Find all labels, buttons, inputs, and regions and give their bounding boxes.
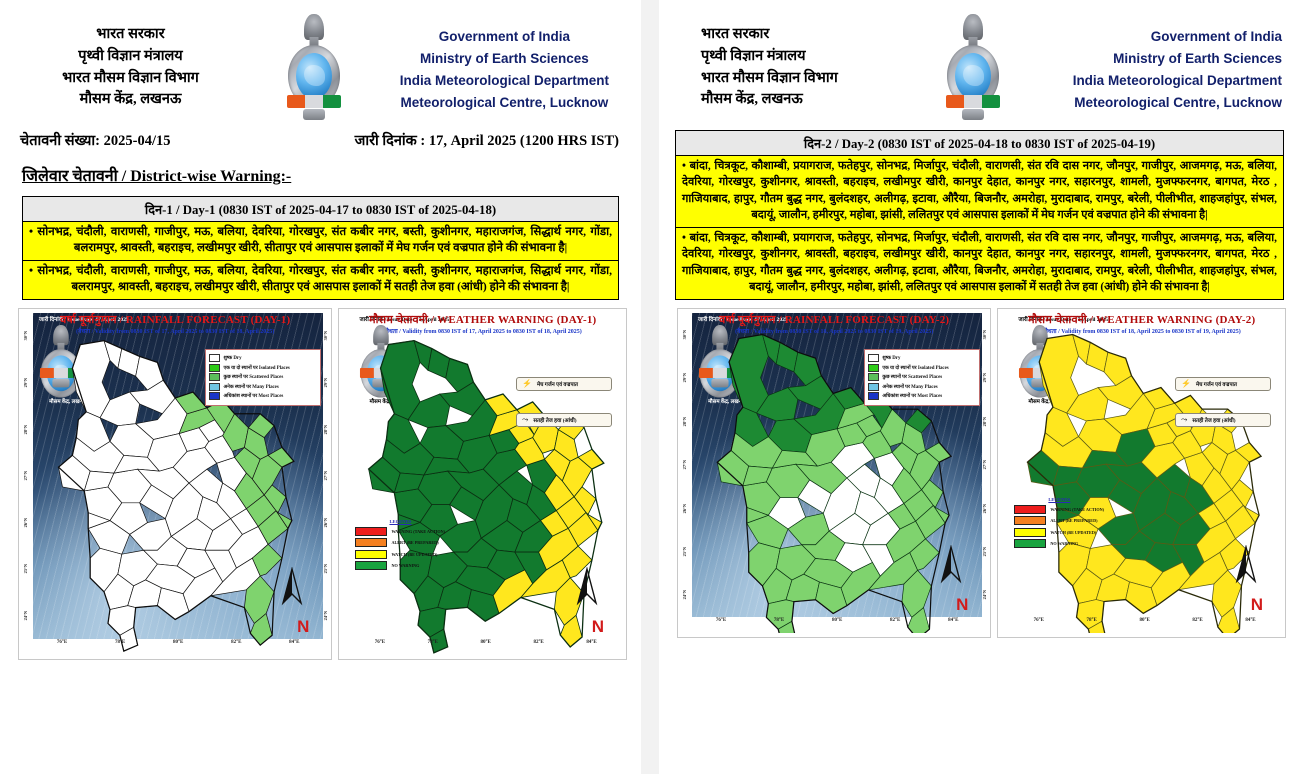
weather-symbol-strong-wind: ⤳ सतही तेज हवा (आंधी) bbox=[516, 413, 612, 427]
legend-label: ALERT (BE PREPARED) bbox=[1050, 518, 1097, 523]
header-english-line-3: India Meteorological Department bbox=[382, 70, 627, 92]
y-tick: 28°N bbox=[323, 425, 328, 434]
warning-legend: LEGENDS WARNING (TAKE ACTION) ALERT (BE … bbox=[1014, 497, 1114, 551]
page-left-day1: भारत सरकार पृथ्वी विज्ञान मंत्रालय भारत … bbox=[0, 0, 641, 774]
legend-item: NO WARNING bbox=[355, 561, 455, 570]
y-tick: 29°N bbox=[23, 378, 28, 387]
y-tick: 25°N bbox=[982, 547, 987, 556]
north-arrow-icon bbox=[1233, 545, 1259, 585]
legend-item: कुछ स्थानों पर Scattered Places bbox=[209, 373, 317, 381]
legend-swatch bbox=[355, 561, 387, 570]
x-tick: 82°E bbox=[890, 618, 900, 631]
map-weather-warning-day2[interactable]: जारी दिनांक / Issue Date: 17, April 2025… bbox=[997, 308, 1286, 638]
legend-label: WARNING (TAKE ACTION) bbox=[391, 529, 445, 534]
document-header: भारत सरकार पृथ्वी विज्ञान मंत्रालय भारत … bbox=[659, 0, 1300, 122]
y-tick: 27°N bbox=[682, 460, 687, 469]
table-row: • बांदा, चित्रकूट, कौशाम्बी, प्रयागराज, … bbox=[676, 228, 1283, 299]
legend-swatch bbox=[868, 364, 879, 372]
legend-swatch bbox=[209, 392, 220, 400]
legend-item: ALERT (BE PREPARED) bbox=[355, 538, 455, 547]
x-tick: 78°E bbox=[428, 640, 438, 653]
day1-table-header: दिन-1 / Day-1 (0830 IST of 2025-04-17 to… bbox=[23, 197, 618, 222]
india-national-emblem-icon bbox=[942, 14, 1004, 122]
legend-label: शुष्क Dry bbox=[882, 355, 900, 361]
header-english-line-2: Ministry of Earth Sciences bbox=[382, 48, 627, 70]
x-tick: 78°E bbox=[115, 640, 125, 653]
y-tick: 26°N bbox=[23, 518, 28, 527]
x-tick: 78°E bbox=[774, 618, 784, 631]
y-tick: 30°N bbox=[682, 330, 687, 339]
legend-label: WATCH (BE UPDATED) bbox=[1050, 530, 1096, 535]
header-english-line-4: Meteorological Centre, Lucknow bbox=[382, 92, 627, 114]
legend-item: NO WARNING bbox=[1014, 539, 1114, 548]
x-tick: 82°E bbox=[533, 640, 543, 653]
legend-swatch bbox=[868, 383, 879, 391]
legend-swatch bbox=[209, 373, 220, 381]
y-tick: 27°N bbox=[982, 460, 987, 469]
document-header: भारत सरकार पृथ्वी विज्ञान मंत्रालय भारत … bbox=[0, 0, 641, 122]
north-arrow-label: N bbox=[297, 617, 309, 637]
map-weather-warning-day1[interactable]: जारी दिनांक / Issue Date: 17, April 2025… bbox=[338, 308, 627, 660]
rainfall-legend: शुष्क Dry एक या दो स्थानों पर Isolated P… bbox=[864, 349, 980, 406]
header-english-line-4: Meteorological Centre, Lucknow bbox=[1041, 92, 1282, 114]
map-y-axis-right: 30°N29°N 28°N27°N 26°N25°N 24°N bbox=[978, 313, 990, 617]
legend-label: कुछ स्थानों पर Scattered Places bbox=[223, 374, 283, 380]
header-hindi-line-3: भारत मौसम विज्ञान विभाग bbox=[14, 68, 247, 90]
map-x-axis: 76°E78°E 80°E82°E 84°E bbox=[33, 640, 323, 653]
north-arrow-icon bbox=[574, 567, 600, 607]
x-tick: 80°E bbox=[832, 618, 842, 631]
map-x-axis: 76°E78°E 80°E82°E 84°E bbox=[1012, 618, 1277, 631]
weather-symbol-label: सतही तेज हवा (आंधी) bbox=[533, 416, 576, 424]
header-hindi-line-2: पृथ्वी विज्ञान मंत्रालय bbox=[14, 46, 247, 68]
warning-bulletin-page: भारत सरकार पृथ्वी विज्ञान मंत्रालय भारत … bbox=[0, 0, 1300, 774]
header-hindi-line-1: भारत सरकार bbox=[701, 24, 906, 46]
legend-label: शुष्क Dry bbox=[223, 355, 241, 361]
legend-item: शुष्क Dry bbox=[868, 354, 976, 362]
x-tick: 76°E bbox=[375, 640, 385, 653]
north-arrow-icon bbox=[279, 567, 305, 607]
legend-title: LEGENDS bbox=[1048, 497, 1114, 502]
legend-item: ALERT (BE PREPARED) bbox=[1014, 516, 1114, 525]
legend-item: शुष्क Dry bbox=[209, 354, 317, 362]
legend-label: एक या दो स्थानों पर Isolated Places bbox=[882, 365, 948, 371]
table-row: • सोनभद्र, चंदौली, वाराणसी, गाजीपुर, मऊ,… bbox=[23, 222, 618, 261]
weather-symbol-label: सतही तेज हवा (आंधी) bbox=[1192, 416, 1235, 424]
legend-label: अधिकांश स्थानों पर Most Places bbox=[223, 393, 283, 399]
y-tick: 24°N bbox=[323, 611, 328, 620]
day2-maps-row: जारी दिनांक / Issue Date: 17, April 2025… bbox=[659, 300, 1300, 638]
table-row: • बांदा, चित्रकूट, कौशाम्बी, प्रयागराज, … bbox=[676, 156, 1283, 228]
weather-symbol-thunderstorm: ⚡ मेघ गर्जन एवं वज्रपात bbox=[1175, 377, 1271, 391]
legend-swatch bbox=[1014, 516, 1046, 525]
day1-maps-row: जारी दिनांक / Issue Date: 17, April 2025… bbox=[0, 300, 641, 660]
india-national-emblem-icon bbox=[283, 14, 345, 122]
y-tick: 24°N bbox=[682, 590, 687, 599]
legend-swatch bbox=[355, 527, 387, 536]
bulletin-meta-row: चेतावनी संख्या: 2025-04/15 जारी दिनांक :… bbox=[0, 122, 641, 150]
x-tick: 80°E bbox=[1139, 618, 1149, 631]
y-tick: 28°N bbox=[982, 417, 987, 426]
day2-warning-table: दिन-2 / Day-2 (0830 IST of 2025-04-18 to… bbox=[675, 130, 1284, 300]
x-tick: 82°E bbox=[231, 640, 241, 653]
legend-label: NO WARNING bbox=[1050, 541, 1078, 546]
y-tick: 29°N bbox=[682, 373, 687, 382]
y-tick: 29°N bbox=[982, 373, 987, 382]
table-row: • सोनभद्र, चंदौली, वाराणसी, गाजीपुर, मऊ,… bbox=[23, 261, 618, 299]
y-tick: 25°N bbox=[23, 564, 28, 573]
legend-item: अधिकांश स्थानों पर Most Places bbox=[868, 392, 976, 400]
legend-item: एक या दो स्थानों पर Isolated Places bbox=[209, 364, 317, 372]
x-tick: 76°E bbox=[57, 640, 67, 653]
legend-swatch bbox=[209, 354, 220, 362]
header-hindi-line-4: मौसम केंद्र, लखनऊ bbox=[701, 89, 906, 111]
legend-swatch bbox=[868, 373, 879, 381]
legend-swatch bbox=[1014, 528, 1046, 537]
header-hindi-block: भारत सरकार पृथ्वी विज्ञान मंत्रालय भारत … bbox=[673, 12, 906, 111]
header-english-block: Government of India Ministry of Earth Sc… bbox=[382, 12, 627, 113]
header-hindi-block: भारत सरकार पृथ्वी विज्ञान मंत्रालय भारत … bbox=[14, 12, 247, 111]
header-hindi-line-3: भारत मौसम विज्ञान विभाग bbox=[701, 68, 906, 90]
header-hindi-line-2: पृथ्वी विज्ञान मंत्रालय bbox=[701, 46, 906, 68]
legend-swatch bbox=[868, 354, 879, 362]
y-tick: 27°N bbox=[323, 471, 328, 480]
x-tick: 84°E bbox=[289, 640, 299, 653]
legend-swatch bbox=[355, 550, 387, 559]
x-tick: 84°E bbox=[586, 640, 596, 653]
x-tick: 76°E bbox=[716, 618, 726, 631]
y-tick: 30°N bbox=[982, 330, 987, 339]
header-english-line-1: Government of India bbox=[382, 26, 627, 48]
map-x-axis: 76°E78°E 80°E82°E 84°E bbox=[353, 640, 618, 653]
legend-item: अनेक स्थानों पर Many Places bbox=[209, 383, 317, 391]
header-hindi-line-4: मौसम केंद्र, लखनऊ bbox=[14, 89, 247, 111]
legend-label: अनेक स्थानों पर Many Places bbox=[882, 384, 937, 390]
legend-swatch bbox=[209, 364, 220, 372]
issue-date: जारी दिनांक : 17, April 2025 (1200 HRS I… bbox=[355, 130, 619, 150]
y-tick: 30°N bbox=[323, 331, 328, 340]
emblem-container bbox=[906, 12, 1041, 122]
wind-icon: ⤳ bbox=[1181, 416, 1187, 424]
header-hindi-line-1: भारत सरकार bbox=[14, 24, 247, 46]
wind-icon: ⤳ bbox=[522, 416, 528, 424]
weather-symbol-strong-wind: ⤳ सतही तेज हवा (आंधी) bbox=[1175, 413, 1271, 427]
rainfall-legend: शुष्क Dry एक या दो स्थानों पर Isolated P… bbox=[205, 349, 321, 406]
legend-label: कुछ स्थानों पर Scattered Places bbox=[882, 374, 942, 380]
x-tick: 80°E bbox=[481, 640, 491, 653]
header-english-line-2: Ministry of Earth Sciences bbox=[1041, 48, 1282, 70]
header-english-line-1: Government of India bbox=[1041, 26, 1282, 48]
y-tick: 26°N bbox=[682, 504, 687, 513]
day1-warning-table: दिन-1 / Day-1 (0830 IST of 2025-04-17 to… bbox=[22, 196, 619, 300]
x-tick: 78°E bbox=[1087, 618, 1097, 631]
x-tick: 76°E bbox=[1034, 618, 1044, 631]
legend-label: ALERT (BE PREPARED) bbox=[391, 540, 438, 545]
north-arrow-label: N bbox=[1251, 595, 1263, 615]
weather-symbol-thunderstorm: ⚡ मेघ गर्जन एवं वज्रपात bbox=[516, 377, 612, 391]
legend-item: अनेक स्थानों पर Many Places bbox=[868, 383, 976, 391]
legend-item: WATCH (BE UPDATED) bbox=[355, 550, 455, 559]
legend-item: कुछ स्थानों पर Scattered Places bbox=[868, 373, 976, 381]
map-rainfall-day2[interactable]: जारी दिनांक / Issue Date: 17, April 2025… bbox=[677, 308, 991, 638]
legend-swatch bbox=[355, 538, 387, 547]
legend-swatch bbox=[868, 392, 879, 400]
x-tick: 84°E bbox=[948, 618, 958, 631]
x-tick: 84°E bbox=[1245, 618, 1255, 631]
legend-swatch bbox=[1014, 539, 1046, 548]
x-tick: 82°E bbox=[1192, 618, 1202, 631]
y-tick: 28°N bbox=[682, 417, 687, 426]
y-tick: 29°N bbox=[323, 378, 328, 387]
legend-item: एक या दो स्थानों पर Isolated Places bbox=[868, 364, 976, 372]
lightning-icon: ⚡ bbox=[522, 380, 532, 388]
legend-title: LEGENDS bbox=[389, 519, 455, 524]
legend-swatch bbox=[1014, 505, 1046, 514]
y-tick: 25°N bbox=[323, 564, 328, 573]
legend-label: NO WARNING bbox=[391, 563, 419, 568]
north-arrow-icon bbox=[938, 545, 964, 585]
map-y-axis-left: 30°N29°N 28°N27°N 26°N25°N 24°N bbox=[678, 313, 690, 617]
page-divider bbox=[641, 0, 659, 774]
map-y-axis-left: 30°N29°N 28°N27°N 26°N25°N 24°N bbox=[19, 313, 31, 639]
map-x-axis: 76°E78°E 80°E82°E 84°E bbox=[692, 618, 982, 631]
y-tick: 24°N bbox=[982, 590, 987, 599]
y-tick: 26°N bbox=[982, 504, 987, 513]
page-right-day2: भारत सरकार पृथ्वी विज्ञान मंत्रालय भारत … bbox=[659, 0, 1300, 774]
weather-symbol-label: मेघ गर्जन एवं वज्रपात bbox=[537, 380, 578, 388]
x-tick: 80°E bbox=[173, 640, 183, 653]
legend-label: WARNING (TAKE ACTION) bbox=[1050, 507, 1104, 512]
legend-label: अधिकांश स्थानों पर Most Places bbox=[882, 393, 942, 399]
legend-item: अधिकांश स्थानों पर Most Places bbox=[209, 392, 317, 400]
y-tick: 30°N bbox=[23, 331, 28, 340]
map-rainfall-day1[interactable]: जारी दिनांक / Issue Date: 17, April 2025… bbox=[18, 308, 332, 660]
lightning-icon: ⚡ bbox=[1181, 380, 1191, 388]
y-tick: 26°N bbox=[323, 518, 328, 527]
y-tick: 25°N bbox=[682, 547, 687, 556]
weather-symbol-label: मेघ गर्जन एवं वज्रपात bbox=[1196, 380, 1237, 388]
legend-item: WARNING (TAKE ACTION) bbox=[1014, 505, 1114, 514]
legend-item: WATCH (BE UPDATED) bbox=[1014, 528, 1114, 537]
y-tick: 27°N bbox=[23, 471, 28, 480]
y-tick: 24°N bbox=[23, 611, 28, 620]
header-english-block: Government of India Ministry of Earth Sc… bbox=[1041, 12, 1286, 113]
header-english-line-3: India Meteorological Department bbox=[1041, 70, 1282, 92]
page-title: जिलेवार चेतावनी / District-wise Warning:… bbox=[0, 150, 641, 186]
legend-label: एक या दो स्थानों पर Isolated Places bbox=[223, 365, 289, 371]
legend-item: WARNING (TAKE ACTION) bbox=[355, 527, 455, 536]
map-y-axis-right: 30°N29°N 28°N27°N 26°N25°N 24°N bbox=[319, 313, 331, 639]
legend-label: अनेक स्थानों पर Many Places bbox=[223, 384, 278, 390]
emblem-container bbox=[247, 12, 382, 122]
legend-label: WATCH (BE UPDATED) bbox=[391, 552, 437, 557]
legend-swatch bbox=[209, 383, 220, 391]
north-arrow-label: N bbox=[956, 595, 968, 615]
y-tick: 28°N bbox=[23, 425, 28, 434]
warning-number: चेतावनी संख्या: 2025-04/15 bbox=[20, 130, 170, 150]
north-arrow-label: N bbox=[592, 617, 604, 637]
warning-legend: LEGENDS WARNING (TAKE ACTION) ALERT (BE … bbox=[355, 519, 455, 573]
day2-table-header: दिन-2 / Day-2 (0830 IST of 2025-04-18 to… bbox=[676, 131, 1283, 156]
